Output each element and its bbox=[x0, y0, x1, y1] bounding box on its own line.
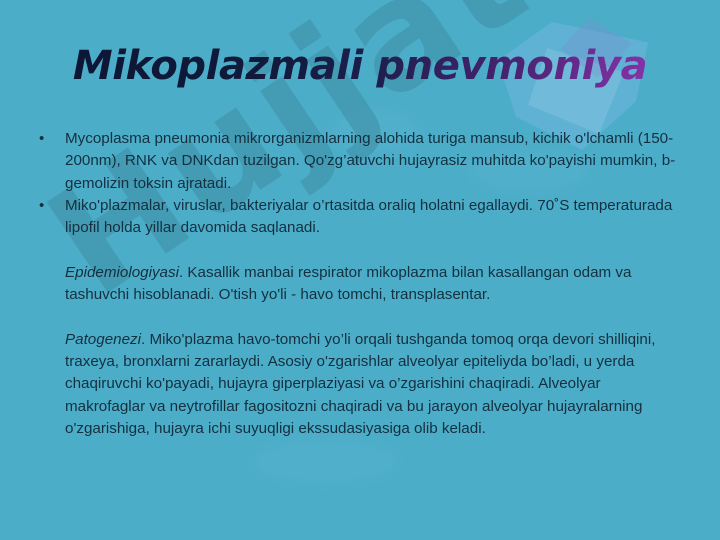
blur-blob-icon bbox=[250, 440, 400, 484]
list-item-text: Miko'plazmalar, viruslar, bakteriyalar o… bbox=[65, 195, 690, 240]
paragraph-spacer bbox=[30, 239, 690, 261]
list-item: • Miko'plazmalar, viruslar, bakteriyalar… bbox=[30, 195, 690, 240]
list-item-text: Mycoplasma pneumonia mikrorganizmlarning… bbox=[65, 128, 690, 195]
paragraph-pathogenesis: Patogenezi. Miko'plazma havo-tomchi yo’l… bbox=[30, 329, 690, 440]
presentation-slide: Hujjat Mikoplazmali pnevmoniya • Mycopla… bbox=[0, 0, 720, 540]
paragraph-epidemiology-lead: Epidemiologiyasi bbox=[65, 264, 179, 281]
paragraph-spacer bbox=[30, 306, 690, 328]
paragraph-pathogenesis-text: . Miko'plazma havo-tomchi yo’li orqali t… bbox=[65, 331, 655, 437]
bullet-marker-icon: • bbox=[30, 128, 65, 150]
slide-body: • Mycoplasma pneumonia mikrorganizmlarni… bbox=[30, 128, 690, 440]
paragraph-pathogenesis-lead: Patogenezi bbox=[65, 331, 141, 348]
list-item: • Mycoplasma pneumonia mikrorganizmlarni… bbox=[30, 128, 690, 195]
page-title: Mikoplazmali pnevmoniya bbox=[0, 42, 720, 90]
bullet-marker-icon: • bbox=[30, 195, 65, 217]
paragraph-epidemiology: Epidemiologiyasi. Kasallik manbai respir… bbox=[30, 262, 690, 307]
